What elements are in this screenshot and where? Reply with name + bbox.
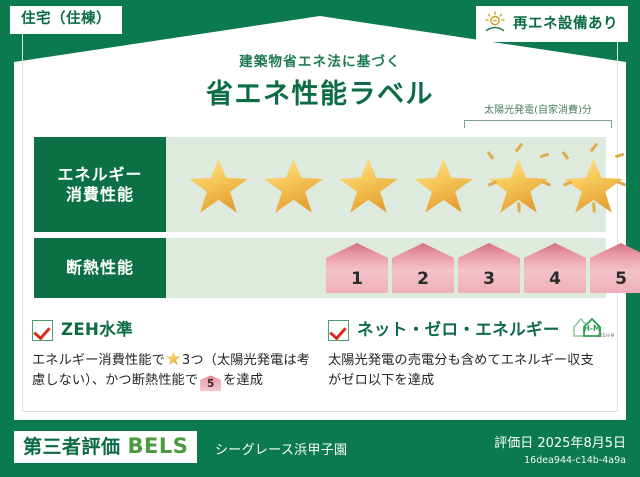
insulation-grade-block: 1 [326, 243, 388, 293]
star-icon [334, 152, 403, 218]
star-shape [338, 158, 399, 216]
evaluation-date-label: 評価日 [494, 436, 533, 451]
insulation-label-text: 断熱性能 [66, 258, 134, 278]
solar-sparkle-icon [590, 142, 599, 152]
insulation-performance-body: 1234567 [166, 238, 606, 298]
zeh-m-house-logo: H-M [ZEH-M] [570, 315, 614, 345]
bels-en-label: BELS [128, 436, 189, 457]
evaluation-date-value: 2025年8月5日 [537, 436, 626, 451]
energy-performance-label: 住宅（住棟） 再エネ設備あり 建築物省エネ法に基づく 省エネ性能ラベル [0, 0, 640, 477]
evaluation-info: 評価日 2025年8月5日 16dea944-c14b-4a9a [494, 437, 626, 466]
solar-sparkle-icon [540, 152, 549, 158]
criterion-zeh-text-1: エネルギー消費性能で [32, 353, 165, 368]
energy-performance-row: エネルギー 消費性能 太陽光発電(自家消費)分 [34, 137, 606, 232]
criterion-zeh-title: ZEH水準 [61, 322, 133, 339]
svg-text:H-M: H-M [583, 324, 600, 333]
solar-sparkle-icon [487, 150, 495, 159]
insulation-grade-block: 2 [392, 243, 454, 293]
energy-label-line1: エネルギー [57, 165, 142, 185]
insulation-performance-label: 断熱性能 [34, 238, 166, 298]
criterion-zeh-text-3: を達成 [223, 373, 263, 388]
insulation-grade-badge: 5 [200, 375, 221, 391]
energy-performance-body: 太陽光発電(自家消費)分 [166, 137, 606, 232]
solar-annotation-text: 太陽光発電(自家消費)分 [464, 106, 612, 116]
star-icon [409, 152, 478, 218]
solar-sparkle-icon [488, 180, 497, 186]
property-name: シーグレース浜甲子園 [215, 444, 347, 457]
solar-sparkle-icon [517, 202, 521, 212]
insulation-grade-block: 3 [458, 243, 520, 293]
star-shape [188, 158, 249, 216]
solar-sparkle-icon [615, 152, 624, 158]
sun-solar-icon [483, 11, 507, 37]
criterion-zeh-header: ZEH水準 [32, 318, 310, 342]
criterion-net-zero-header: ネット・ゼロ・エネルギー H-M [ZEH-M] [328, 318, 606, 342]
red-check-icon [328, 320, 349, 341]
svg-text:[ZEH-M]: [ZEH-M] [597, 333, 613, 339]
star-icon [259, 152, 328, 218]
criterion-net-zero-body: 太陽光発電の売電分も含めてエネルギー収支がゼロ以下を達成 [328, 351, 606, 392]
bels-jp-label: 第三者評価 [23, 438, 121, 457]
solar-annotation-bracket [464, 120, 612, 128]
criterion-zeh: ZEH水準 エネルギー消費性能で3つ（太陽光発電は考慮しない）、かつ断熱性能で5… [32, 318, 310, 392]
insulation-performance-row: 断熱性能 1234567 [34, 238, 606, 298]
dwelling-type-tag: 住宅（住棟） [10, 6, 122, 34]
evaluation-id: 16dea944-c14b-4a9a [494, 456, 626, 466]
evaluation-date: 評価日 2025年8月5日 [494, 437, 626, 450]
star-shape [413, 158, 474, 216]
solar-sparkle-icon [562, 150, 570, 159]
red-check-icon [32, 320, 53, 341]
criterion-zeh-body: エネルギー消費性能で3つ（太陽光発電は考慮しない）、かつ断熱性能で5を達成 [32, 351, 310, 392]
energy-performance-label: エネルギー 消費性能 [34, 137, 166, 232]
bels-badge: 第三者評価 BELS [14, 431, 197, 463]
star-icon [559, 152, 628, 218]
title-subtitle: 建築物省エネ法に基づく [0, 56, 640, 70]
solar-sparkle-icon [563, 180, 572, 186]
energy-label-line2: 消費性能 [66, 185, 134, 205]
star-icon [166, 351, 181, 366]
renewable-equipment-label: 再エネ設備あり [513, 17, 618, 32]
star-shape [263, 158, 324, 216]
solar-sparkle-icon [542, 180, 551, 186]
star-icon [484, 152, 553, 218]
solar-annotation: 太陽光発電(自家消費)分 [464, 106, 612, 128]
insulation-grade-block: 5 [590, 243, 640, 293]
solar-sparkle-icon [617, 180, 626, 186]
solar-sparkle-icon [515, 142, 524, 152]
insulation-grade-blocks: 1234567 [326, 243, 640, 293]
insulation-grade-block: 4 [524, 243, 586, 293]
solar-sparkle-icon [592, 202, 596, 212]
criterion-net-zero-title: ネット・ゼロ・エネルギー [357, 322, 560, 339]
star-icon [184, 152, 253, 218]
title-block: 建築物省エネ法に基づく 省エネ性能ラベル [0, 56, 640, 108]
energy-star-rating [184, 137, 628, 232]
criterion-net-zero: ネット・ゼロ・エネルギー H-M [ZEH-M] 太陽光発電の売電分も含めてエネ… [328, 318, 606, 392]
renewable-equipment-badge: 再エネ設備あり [476, 6, 628, 42]
page-title: 省エネ性能ラベル [0, 81, 640, 108]
